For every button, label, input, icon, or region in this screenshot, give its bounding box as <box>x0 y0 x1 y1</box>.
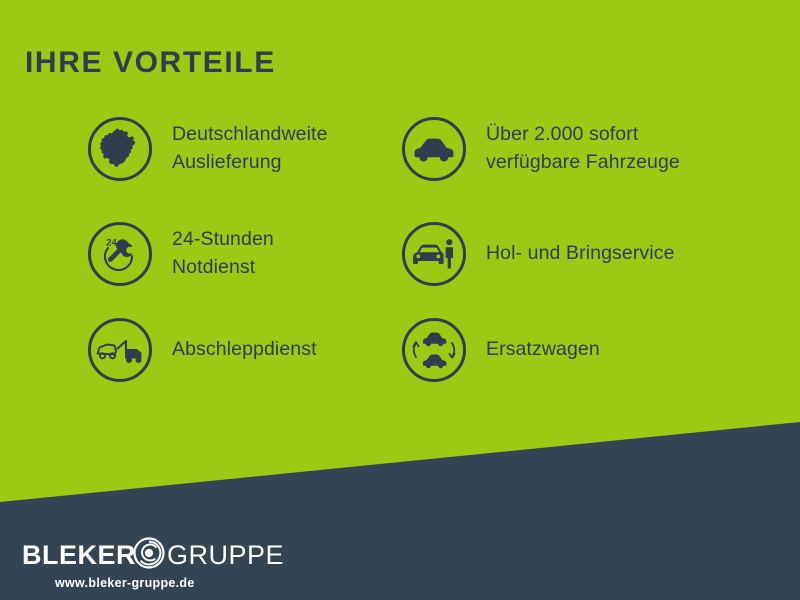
logo-url-text[interactable]: www.bleker-gruppe.de <box>55 576 284 590</box>
logo-bleker-text: BLEKER <box>22 542 136 569</box>
benefit-item-24-stunden-notdienst[interactable]: 24 24-Stunden Notdienst <box>88 218 274 290</box>
footer-logo[interactable]: BLEKER GRUPPE www.bleker-gruppe.de <box>22 540 284 590</box>
benefit-item-verfuegbare-fahrzeuge[interactable]: Über 2.000 sofort verfügbare Fahrzeuge <box>402 113 680 185</box>
benefit-label: 24-Stunden Notdienst <box>172 226 274 281</box>
logo-gruppe-text: GRUPPE <box>167 542 284 569</box>
two-cars-swap-icon <box>402 318 466 382</box>
logo-wordmark: BLEKER GRUPPE <box>22 540 284 570</box>
benefit-item-ersatzwagen[interactable]: Ersatzwagen <box>402 314 600 386</box>
benefit-label: Deutschlandweite Auslieferung <box>172 121 328 176</box>
benefit-item-abschleppdienst[interactable]: Abschleppdienst <box>88 314 317 386</box>
germany-map-icon <box>88 117 152 181</box>
page-title: IHRE VORTEILE <box>25 48 276 78</box>
benefit-label: Ersatzwagen <box>486 336 600 364</box>
benefit-label: Abschleppdienst <box>172 336 317 364</box>
benefit-item-deutschlandweite-auslieferung[interactable]: Deutschlandweite Auslieferung <box>88 113 328 185</box>
slide-root: IHRE VORTEILE Deutschlandweite Ausliefer… <box>0 0 800 600</box>
clock-24-wrench-icon: 24 <box>88 222 152 286</box>
benefit-item-hol-und-bringservice[interactable]: Hol- und Bringservice <box>402 218 675 290</box>
car-side-icon <box>402 117 466 181</box>
car-front-person-icon <box>402 222 466 286</box>
benefit-label: Hol- und Bringservice <box>486 240 675 268</box>
spiral-circle-logo-icon <box>132 536 166 575</box>
badge-24-text: 24 <box>106 238 117 249</box>
tow-truck-icon <box>88 318 152 382</box>
benefit-label: Über 2.000 sofort verfügbare Fahrzeuge <box>486 121 680 176</box>
